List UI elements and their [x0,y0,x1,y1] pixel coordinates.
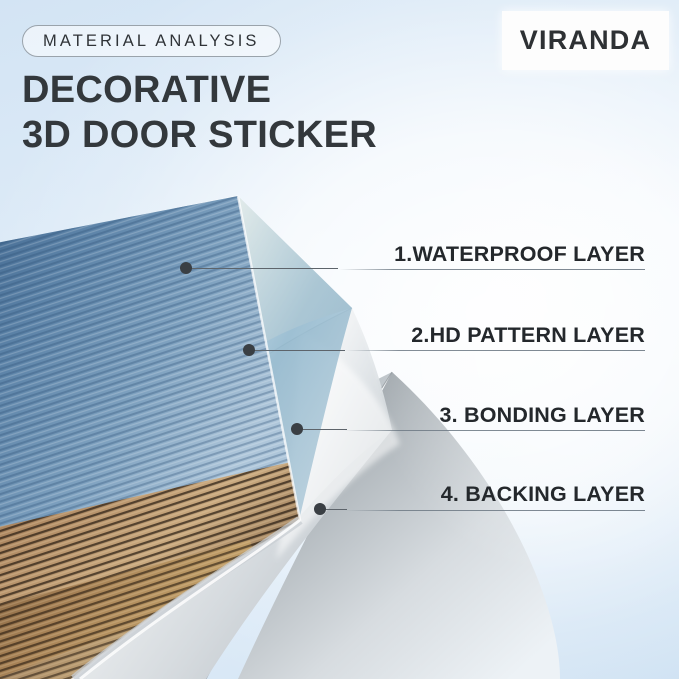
badge-label: MATERIAL ANALYSIS [43,32,260,51]
callout-leader-line-2 [249,350,345,351]
callout-leader-line-3 [297,429,347,430]
callout-dot-3 [291,423,303,435]
material-analysis-poster: MATERIAL ANALYSIS DECORATIVE 3D DOOR STI… [0,0,679,679]
callout-rule-1 [339,269,645,270]
page-title: DECORATIVE 3D DOOR STICKER [22,68,377,158]
title-line-1: DECORATIVE [22,69,271,111]
callout-dot-1 [180,262,192,274]
callout-leader-line-1 [186,268,338,269]
brand-logo-text: VIRANDA [520,25,651,56]
material-analysis-badge: MATERIAL ANALYSIS [22,25,281,57]
callout-dot-2 [243,344,255,356]
title-line-2: 3D DOOR STICKER [22,113,377,158]
callout-rule-2 [345,350,645,351]
callout-label-1: 1.WATERPROOF LAYER [394,242,645,267]
brand-logo: VIRANDA [502,11,669,70]
callout-rule-4 [345,510,645,511]
callout-label-3: 3. BONDING LAYER [440,403,646,428]
callout-rule-3 [344,430,645,431]
callout-label-2: 2.HD PATTERN LAYER [411,323,645,348]
callout-label-4: 4. BACKING LAYER [441,482,645,507]
callout-dot-4 [314,503,326,515]
